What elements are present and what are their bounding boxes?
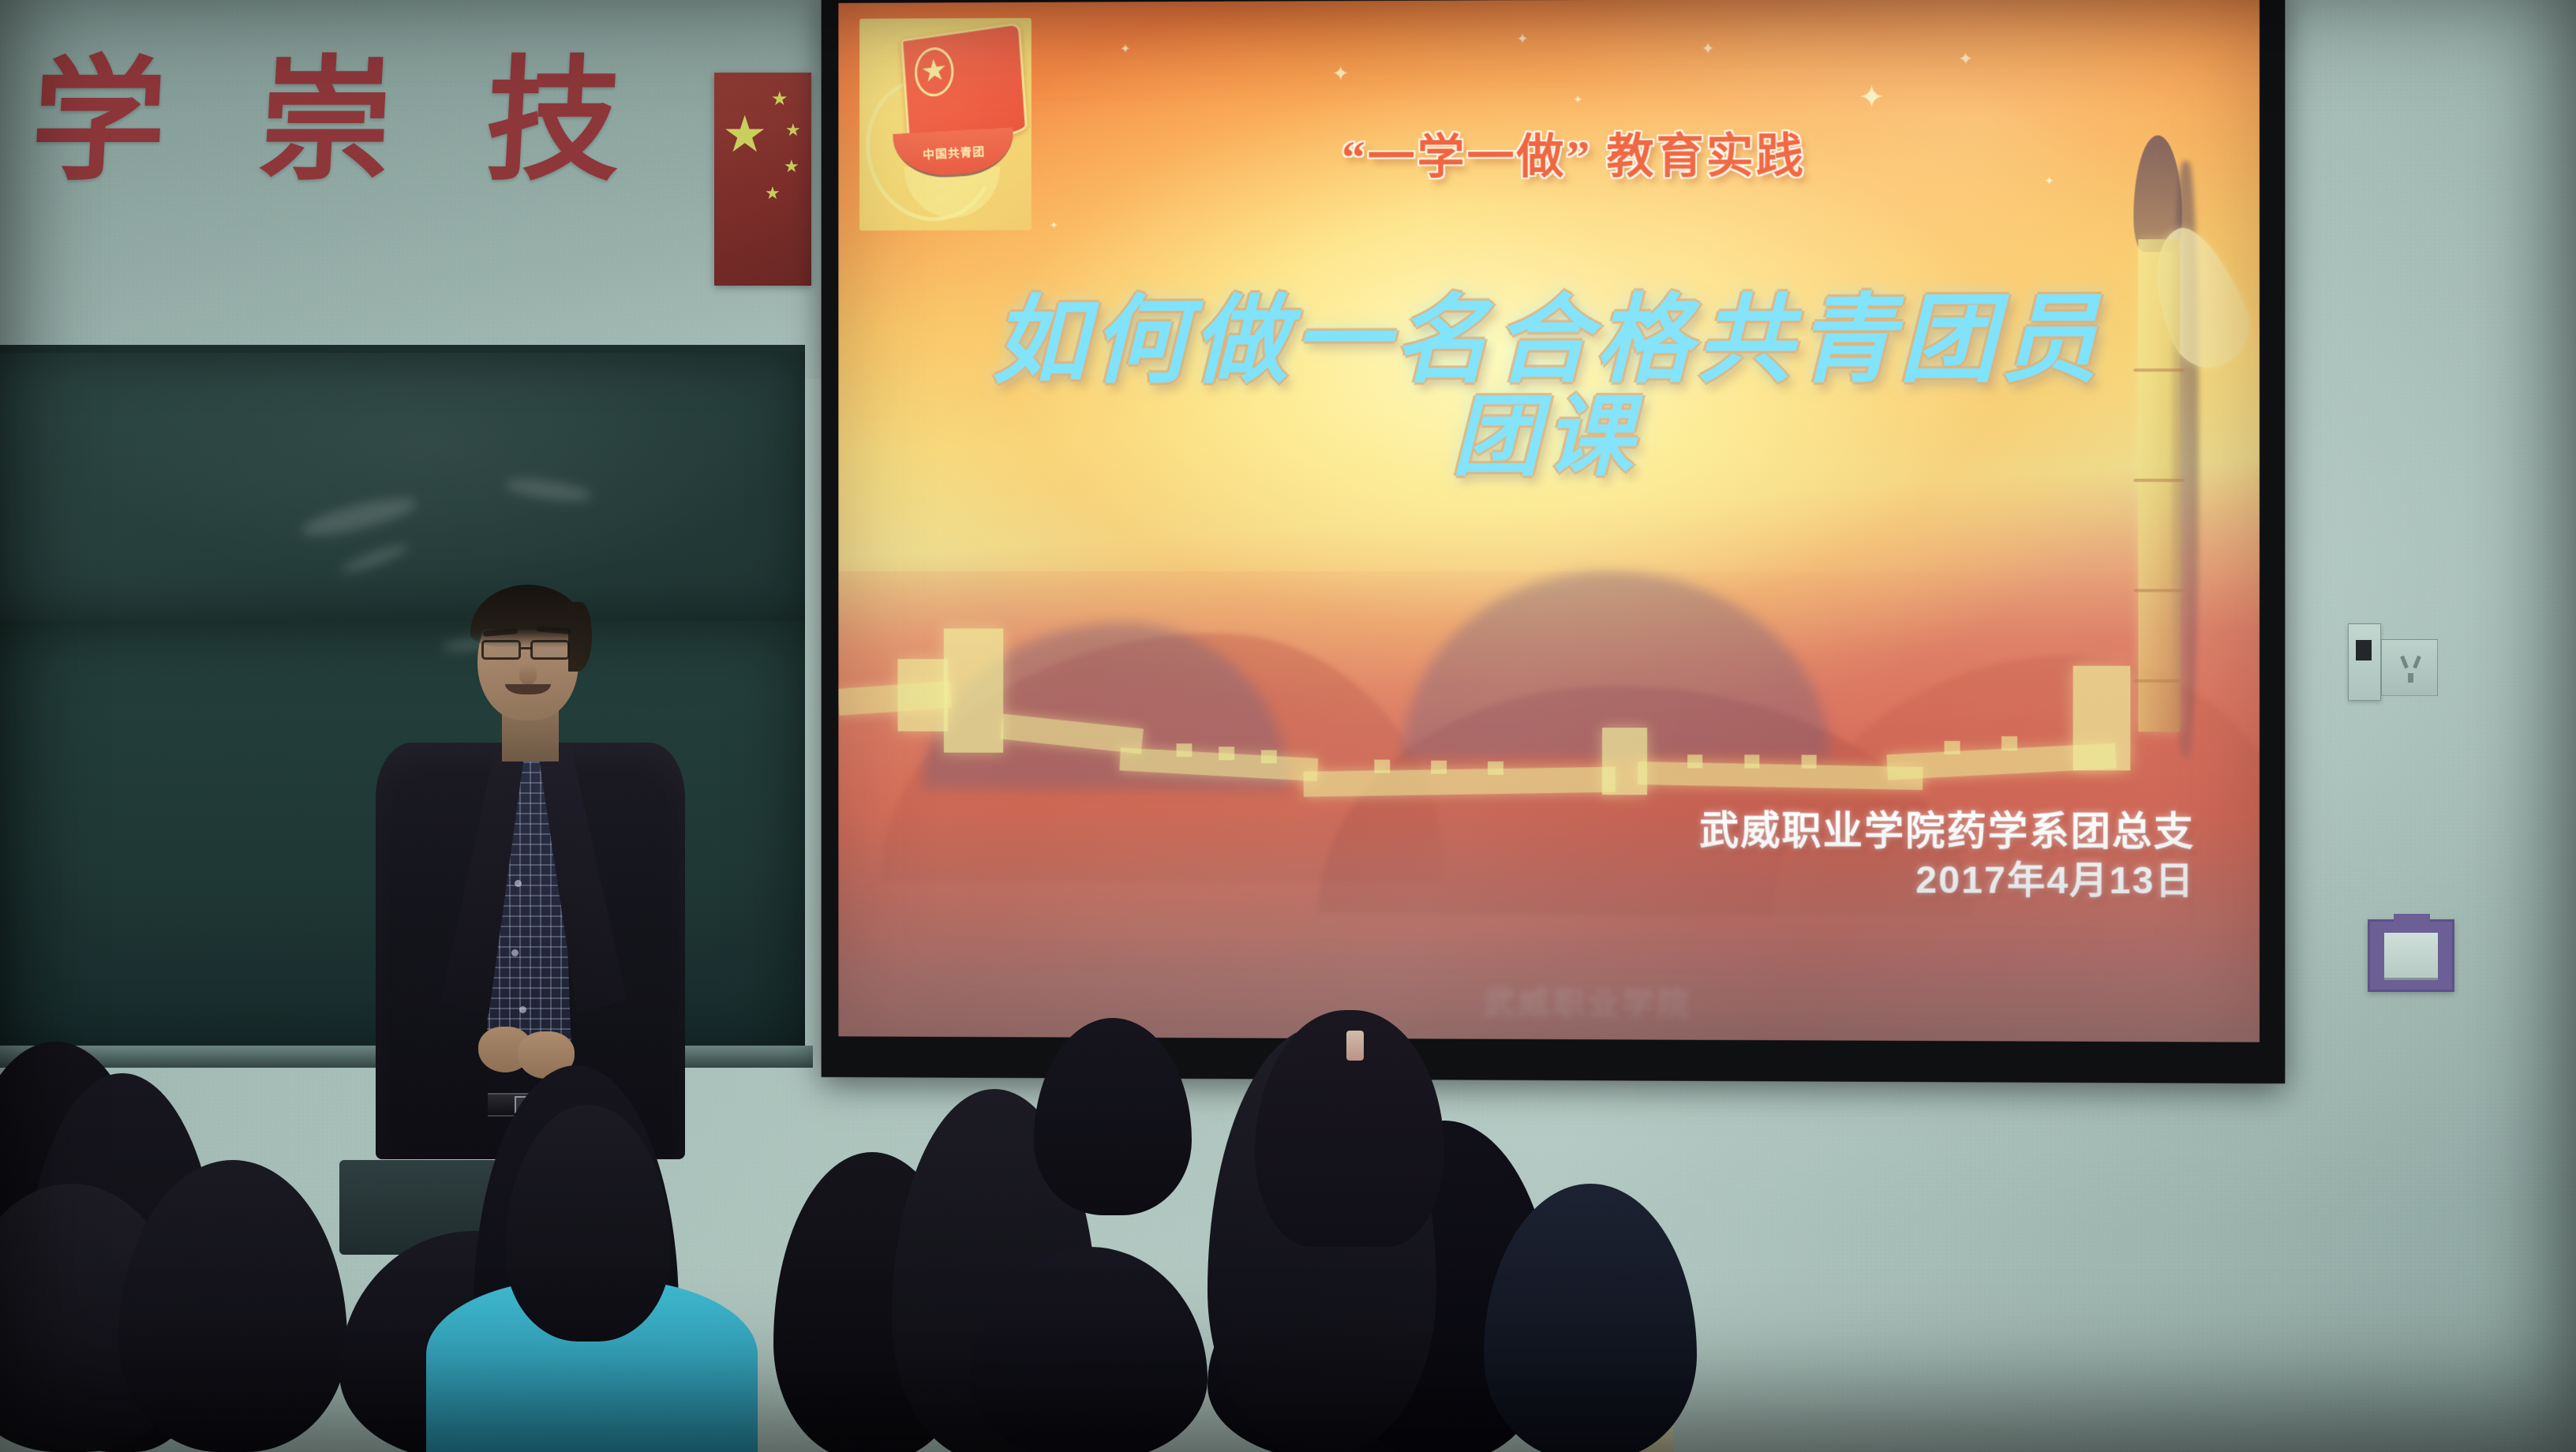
socket-box[interactable] [2368,919,2454,992]
slide-date: 2017年4月13日 [1339,855,2195,907]
huabiao-band [2133,589,2185,592]
shirt-button [519,1006,526,1013]
shirt-button [515,880,522,887]
projection-screen-frame: ★ 中国共青团 ✦ ✦ ✦ ✦ ✦ ✦ ✦ ✦ ✦ [822,0,2286,1083]
slide-title-line-2: 团课 [881,391,2217,485]
eyeglass-lens-right [530,640,570,660]
great-wall-crenel [1177,743,1193,757]
presenter-nose [519,664,537,684]
great-wall-crenel [1375,759,1391,773]
presenter-hair-side [568,602,592,672]
slide-title: 如何做一名合格共青团员 团课 [881,290,2217,485]
great-wall-crenel [2001,736,2017,750]
sparkle-icon: ✦ [1702,41,1715,57]
great-wall-crenel [1744,755,1760,769]
sparkle-icon: ✦ [1332,63,1350,84]
flag-star-1: ★ [771,90,788,109]
sparkle-icon: ✦ [1050,219,1058,230]
youth-league-emblem-icon: ★ 中国共青团 [859,18,1032,230]
outlet-slot [2408,673,2413,683]
outlet-slot [2400,656,2409,669]
sparkle-icon: ✦ [1120,43,1130,56]
power-outlet[interactable] [2381,639,2438,696]
great-wall-crenel [1432,761,1447,774]
socket-box-face [2384,933,2438,980]
huabiao-band [2133,679,2185,683]
wall-calligraphy: 学 崇 技 [32,55,620,189]
great-wall-crenel [1687,754,1703,768]
sparkle-icon: ✦ [1859,82,1885,114]
eyeglass-lens-left [481,640,521,660]
china-flag-icon: ★ ★ ★ ★ ★ [714,73,811,286]
shirt-button [511,949,519,956]
great-wall-crenel [1944,741,1960,754]
flag-star-3: ★ [784,158,799,175]
presenter [339,588,718,1156]
flag-star-large: ★ [722,109,767,159]
calligraphy-char-1: 学 [28,55,170,189]
outlet-slot [2413,656,2421,669]
projection-screen-surface: ★ 中国共青团 ✦ ✦ ✦ ✦ ✦ ✦ ✦ ✦ ✦ [838,0,2260,1042]
classroom-photo: 学 崇 技 ★ ★ ★ ★ ★ [0,0,2576,1452]
emblem-star-icon: ★ [918,49,950,93]
light-switch-button[interactable] [2356,640,2372,661]
great-wall-tower [944,628,1003,752]
slide-title-line-1: 如何做一名合格共青团员 [881,290,2217,393]
eyeglasses-icon [480,640,578,661]
slide-header-text: “一学一做” 教育实践 [1205,129,1945,185]
sparkle-icon: ✦ [1516,32,1528,46]
great-wall-crenel [1219,747,1234,760]
socket-box-tab [2394,914,2430,922]
great-wall-crenel [1488,762,1504,775]
slide-footer: 武威职业学院药学系团总支 2017年4月13日 [1339,805,2195,906]
calligraphy-char-2: 崇 [256,55,397,189]
slide-organization: 武威职业学院药学系团总支 [1339,805,2195,858]
sparkle-icon: ✦ [1574,93,1583,104]
light-switch[interactable] [2348,623,2381,701]
sparkle-icon: ✦ [1958,51,1973,68]
hair-clip [1346,1031,1364,1061]
flag-star-4: ★ [765,185,781,202]
sparkle-icon: ✦ [2044,175,2054,187]
eyeglass-bridge [521,647,532,649]
emblem-banner-text: 中国共青团 [922,143,985,163]
flag-star-2: ★ [785,122,801,139]
great-wall-crenel [1261,750,1277,763]
great-wall-crenel [1801,755,1817,769]
great-wall-segment [1304,766,1616,796]
calligraphy-char-3: 技 [483,55,624,189]
blackboard [0,345,805,621]
